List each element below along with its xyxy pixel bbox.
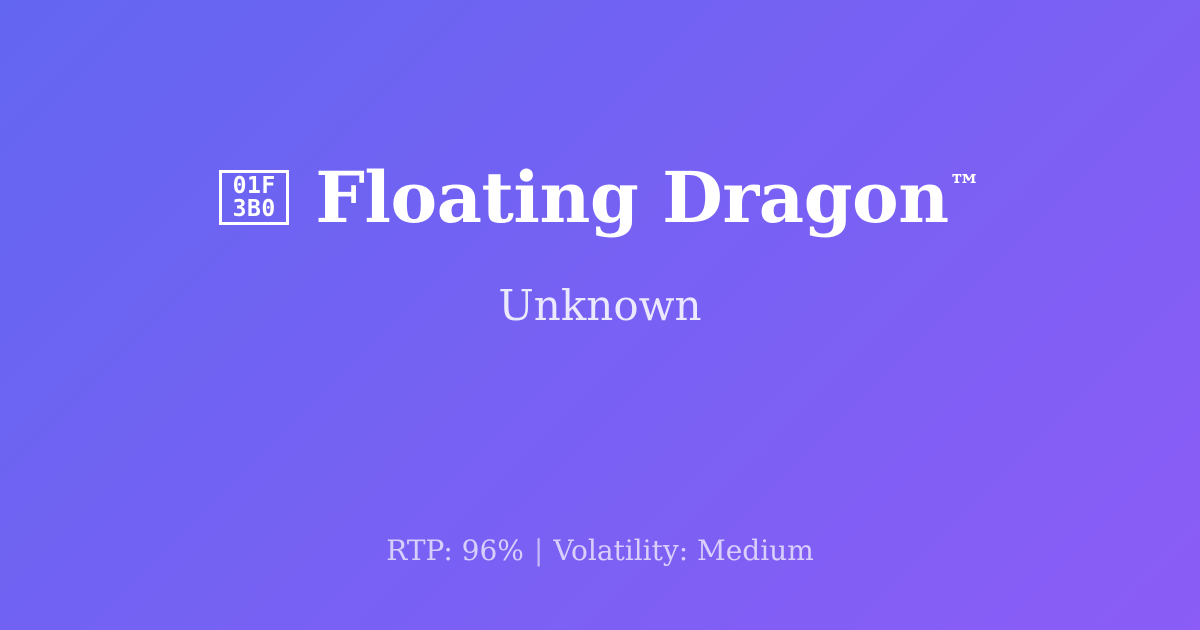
rtp-value: RTP: 96%	[386, 534, 524, 568]
trademark-symbol: ™	[949, 168, 981, 206]
tofu-codepoint-upper: 01F	[233, 175, 276, 198]
og-preview-card: 01F 3B0 Floating Dragon™ Unknown RTP: 96…	[0, 0, 1200, 630]
game-subtitle: Unknown	[498, 283, 701, 329]
game-title-text: Floating Dragon	[315, 156, 948, 239]
title-row: 01F 3B0 Floating Dragon™	[219, 161, 981, 235]
hero-section: 01F 3B0 Floating Dragon™ Unknown	[0, 0, 1200, 490]
volatility-value: Volatility: Medium	[553, 534, 813, 568]
page-title: Floating Dragon™	[315, 161, 981, 235]
slot-machine-icon: 01F 3B0	[219, 170, 289, 225]
tofu-codepoint-lower: 3B0	[233, 198, 276, 221]
game-meta-bar: RTP: 96% | Volatility: Medium	[0, 534, 1200, 568]
meta-separator: |	[524, 534, 553, 568]
